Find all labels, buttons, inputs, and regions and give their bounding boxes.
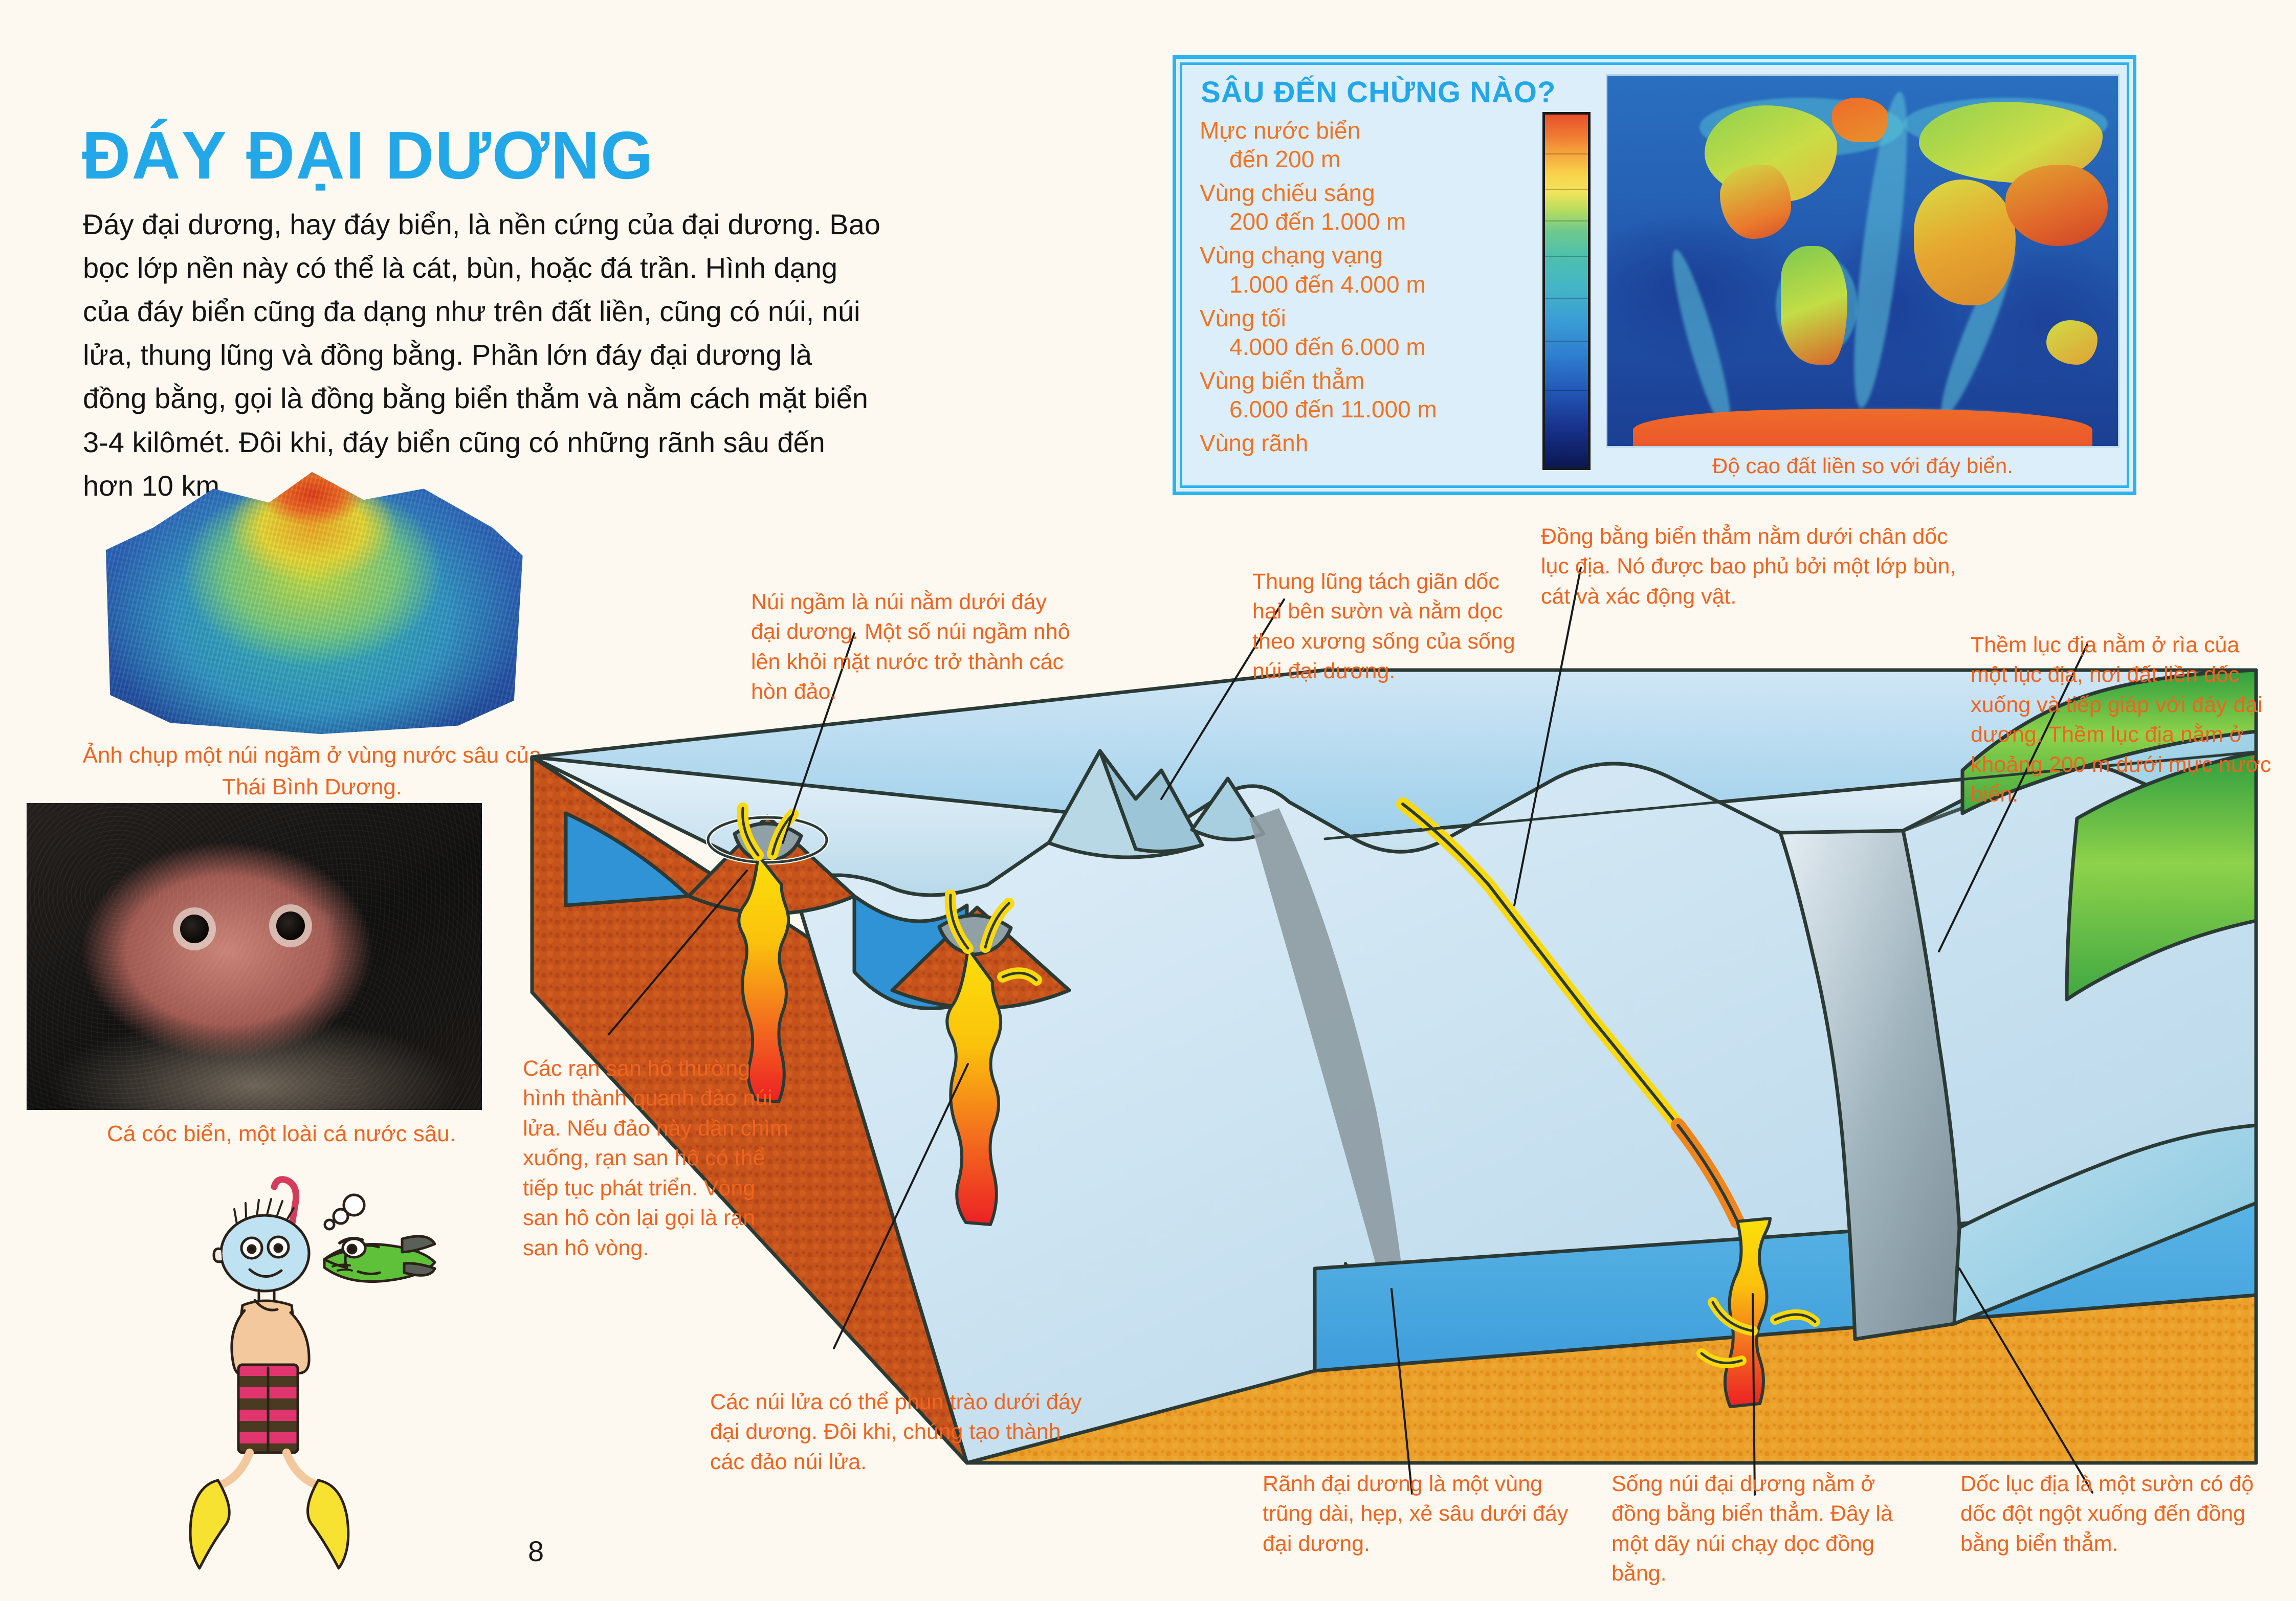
page-number: 8 bbox=[528, 1535, 544, 1568]
book-page: ĐÁY ĐẠI DƯƠNG Đáy đại dương, hay đáy biể… bbox=[0, 0, 2296, 1601]
annotation-mid-ocean-ridge: Sống núi đại dương nằm ở đồng bằng biển … bbox=[1611, 1469, 1929, 1589]
depth-zone-name: Vùng tối bbox=[1200, 304, 1527, 332]
annotation-coral-reef: Các rạn san hô thường hình thành quanh đ… bbox=[523, 1054, 789, 1263]
depth-zone-range: 200 đến 1.000 m bbox=[1229, 207, 1527, 236]
depth-zone-name: Vùng chiếu sáng bbox=[1200, 179, 1527, 207]
annotation-continental-shelf: Thềm lục địa nằm ở rìa của một lục địa, … bbox=[1971, 630, 2278, 810]
cartoon-snorkeler-illustration bbox=[118, 1171, 435, 1575]
depth-zone-name: Vùng rãnh bbox=[1200, 429, 1527, 457]
annotation-abyssal-plain: Đồng bằng biển thẳm nằm dưới chân dốc lụ… bbox=[1541, 522, 1971, 611]
annotation-trench: Rãnh đại dương là một vùng trũng dài, hẹ… bbox=[1263, 1469, 1580, 1559]
depth-zone-range: 4.000 đến 6.000 m bbox=[1229, 332, 1527, 361]
depth-zone-range: 1.000 đến 4.000 m bbox=[1229, 270, 1527, 299]
fish-photo-caption: Cá cóc biển, một loài cá nước sâu. bbox=[51, 1121, 512, 1147]
page-title: ĐÁY ĐẠI DƯƠNG bbox=[82, 122, 654, 189]
depth-zone-name: Vùng biển thẳm bbox=[1200, 366, 1527, 395]
depth-zone-range: 6.000 đến 11.000 m bbox=[1229, 395, 1527, 424]
depth-zone-item: Vùng chạng vạng 1.000 đến 4.000 m bbox=[1200, 241, 1527, 298]
depth-info-box: SÂU ĐẾN CHỪNG NÀO? Mực nước biển đến 200… bbox=[1173, 55, 2136, 495]
intro-paragraph: Đáy đại dương, hay đáy biển, là nền cứng… bbox=[83, 203, 881, 507]
deep-sea-fish-photo bbox=[27, 803, 482, 1110]
annotation-rift-valley: Thung lũng tách giãn dốc hai bên sườn và… bbox=[1252, 567, 1529, 686]
annotation-seamount: Núi ngầm là núi nằm dưới đáy đại dương. … bbox=[751, 587, 1078, 707]
depth-box-title: SÂU ĐẾN CHỪNG NÀO? bbox=[1201, 75, 1556, 109]
depth-zone-item: Vùng rãnh bbox=[1200, 429, 1527, 457]
depth-zone-item: Vùng biển thẳm 6.000 đến 11.000 m bbox=[1200, 366, 1527, 424]
annotation-continental-slope: Dốc lục địa là một sườn có độ dốc đột ng… bbox=[1960, 1469, 2278, 1559]
depth-zone-item: Mực nước biển đến 200 m bbox=[1200, 116, 1527, 173]
depth-zone-name: Vùng chạng vạng bbox=[1200, 241, 1527, 270]
depth-zone-name: Mực nước biển bbox=[1200, 116, 1527, 145]
depth-zone-item: Vùng chiếu sáng 200 đến 1.000 m bbox=[1200, 179, 1527, 236]
depth-zone-range: đến 200 m bbox=[1229, 145, 1527, 173]
map-caption: Độ cao đất liền so với đáy biển. bbox=[1606, 454, 2120, 478]
world-bathymetry-map bbox=[1606, 74, 2120, 448]
seamount-photo-caption: Ảnh chụp một núi ngầm ở vùng nước sâu củ… bbox=[82, 740, 542, 803]
depth-zone-item: Vùng tối 4.000 đến 6.000 m bbox=[1200, 304, 1527, 361]
depth-colorbar bbox=[1542, 112, 1591, 470]
annotation-volcano: Các núi lửa có thể phun trào dưới đáy đạ… bbox=[710, 1387, 1089, 1477]
depth-zone-list: Mực nước biển đến 200 m Vùng chiếu sáng … bbox=[1200, 116, 1527, 462]
